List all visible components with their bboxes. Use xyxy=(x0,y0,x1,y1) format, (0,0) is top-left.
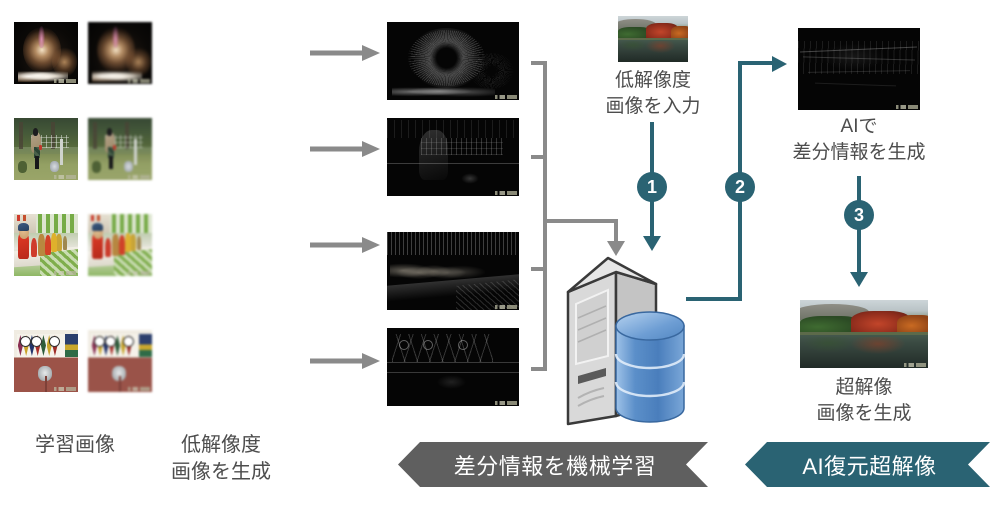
bracket-to-server-horizontal xyxy=(543,219,618,223)
column-label-lowres-generate: 低解像度 画像を生成 xyxy=(146,432,296,486)
server-database-illustration xyxy=(560,248,690,430)
row-arrow-mural xyxy=(310,352,382,370)
bracket-stub-4 xyxy=(531,367,547,371)
lowres-image-teddybears xyxy=(88,214,152,276)
note-ai-difference: AIで 差分情報を生成 xyxy=(779,114,939,166)
note-input-line1: 低解像度 xyxy=(573,68,733,94)
bracket-vertical xyxy=(543,61,547,371)
banner-machine-learning[interactable]: 差分情報を機械学習 xyxy=(398,442,708,487)
diagram-canvas: 学習画像 低解像度 画像を生成 低解像度 画像を入力 1 xyxy=(0,0,1000,514)
row-arrow-fireworks xyxy=(310,44,382,62)
banner-ai-restore-label: AI復元超解像 xyxy=(798,449,936,481)
note-superres: 超解像 画像を生成 xyxy=(784,375,944,427)
step-2-badge: 2 xyxy=(725,172,755,202)
flow-2-from-server xyxy=(686,297,742,301)
training-image-fireworks xyxy=(14,22,78,84)
note-input-line2: 画像を入力 xyxy=(573,94,733,120)
note-input-lowres: 低解像度 画像を入力 xyxy=(573,68,733,120)
superres-output-thumbnail xyxy=(800,300,928,368)
row-arrow-park xyxy=(310,140,382,158)
step-1-badge: 1 xyxy=(637,172,667,202)
lowres-image-fireworks xyxy=(88,22,152,84)
flow-2-horizontal-top xyxy=(738,61,776,65)
difference-image-fireworks xyxy=(387,22,519,100)
banner-machine-learning-label: 差分情報を機械学習 xyxy=(450,449,657,481)
difference-image-teddybears xyxy=(387,232,519,310)
lowres-label-line1: 低解像度 xyxy=(146,432,296,459)
difference-image-park xyxy=(387,118,519,196)
note-aidiff-line2: 差分情報を生成 xyxy=(779,140,939,166)
note-superres-line1: 超解像 xyxy=(784,375,944,401)
bracket-stub-3 xyxy=(531,267,547,271)
row-arrow-teddybears xyxy=(310,236,382,254)
lowres-image-park xyxy=(88,118,152,180)
training-image-mural xyxy=(14,330,78,392)
note-aidiff-line1: AIで xyxy=(779,114,939,140)
note-superres-line2: 画像を生成 xyxy=(784,401,944,427)
step-3-badge: 3 xyxy=(844,200,874,230)
training-image-park xyxy=(14,118,78,180)
flow-3-arrowhead xyxy=(849,272,869,288)
lowres-label-line2: 画像を生成 xyxy=(146,459,296,486)
input-lowres-thumbnail xyxy=(618,16,688,62)
training-image-teddybears xyxy=(14,214,78,276)
lowres-image-mural xyxy=(88,330,152,392)
column-label-training-images: 学習画像 xyxy=(0,432,150,459)
ai-difference-output-thumbnail xyxy=(798,28,920,110)
banner-ai-restore[interactable]: AI復元超解像 xyxy=(745,442,990,487)
bracket-stub-1 xyxy=(531,61,547,65)
bracket-stub-2 xyxy=(531,155,547,159)
flow-2-arrowhead xyxy=(772,55,788,73)
difference-image-mural xyxy=(387,328,519,406)
